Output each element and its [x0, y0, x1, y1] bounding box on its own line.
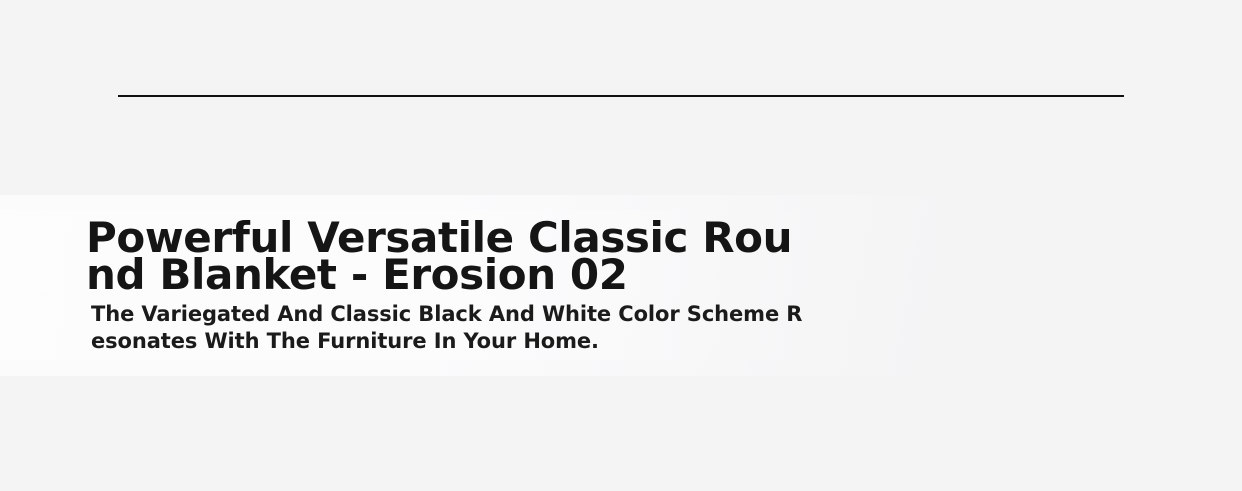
- top-divider-rule: [118, 95, 1124, 97]
- left-edge-marker: [17, 272, 48, 290]
- product-text-block: Powerful Versatile Classic Round Blanket…: [86, 219, 798, 355]
- product-subtitle: The Variegated And Classic Black And Whi…: [91, 301, 807, 355]
- page-title: Powerful Versatile Classic Round Blanket…: [86, 219, 798, 293]
- banner-page: Powerful Versatile Classic Round Blanket…: [0, 0, 1242, 491]
